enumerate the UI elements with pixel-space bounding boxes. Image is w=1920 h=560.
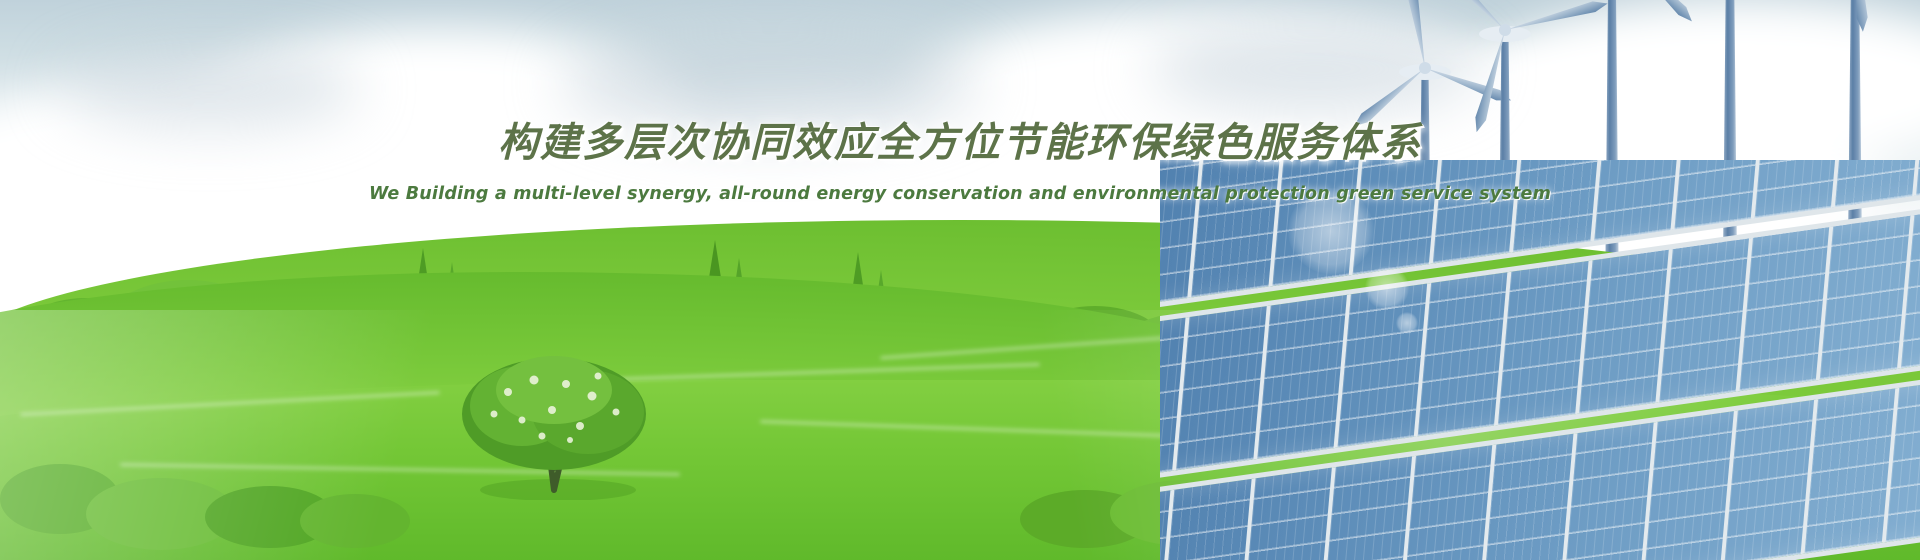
solar-module <box>1579 249 1673 414</box>
page-title: 构建多层次协同效应全方位节能环保绿色服务体系 <box>0 110 1920 168</box>
turbine-hub <box>1419 62 1431 74</box>
solar-module <box>1257 294 1351 459</box>
solar-panel-array <box>1160 160 1920 560</box>
mow-stripe <box>760 420 1220 439</box>
hero-banner: 构建多层次协同效应全方位节能环保绿色服务体系 We Building a mul… <box>0 0 1920 560</box>
solar-module <box>1659 237 1753 402</box>
banner-copy: 构建多层次协同效应全方位节能环保绿色服务体系 We Building a mul… <box>0 110 1920 204</box>
solar-module <box>1418 271 1512 436</box>
turbine-hub <box>1499 24 1511 36</box>
solar-module <box>1740 226 1834 391</box>
solar-module <box>1242 467 1336 560</box>
turbine-blade <box>1404 0 1431 69</box>
turbine-blade <box>1608 0 1696 25</box>
page-subtitle: We Building a multi-level synergy, all-r… <box>0 184 1920 204</box>
solar-module <box>1403 445 1497 560</box>
mow-stripe <box>20 391 440 416</box>
mow-stripe <box>880 336 1179 360</box>
solar-module <box>1322 456 1416 560</box>
solar-module <box>1644 411 1738 560</box>
flowering-lone-tree <box>430 340 690 500</box>
solar-module <box>1337 283 1431 448</box>
solar-module <box>1820 215 1914 380</box>
solar-module <box>1805 388 1899 553</box>
solar-module <box>1564 422 1658 560</box>
solar-module <box>1724 400 1818 560</box>
solar-module <box>1483 433 1577 560</box>
solar-module <box>1498 260 1592 425</box>
solar-module <box>1161 479 1255 560</box>
solar-module <box>1176 305 1270 470</box>
